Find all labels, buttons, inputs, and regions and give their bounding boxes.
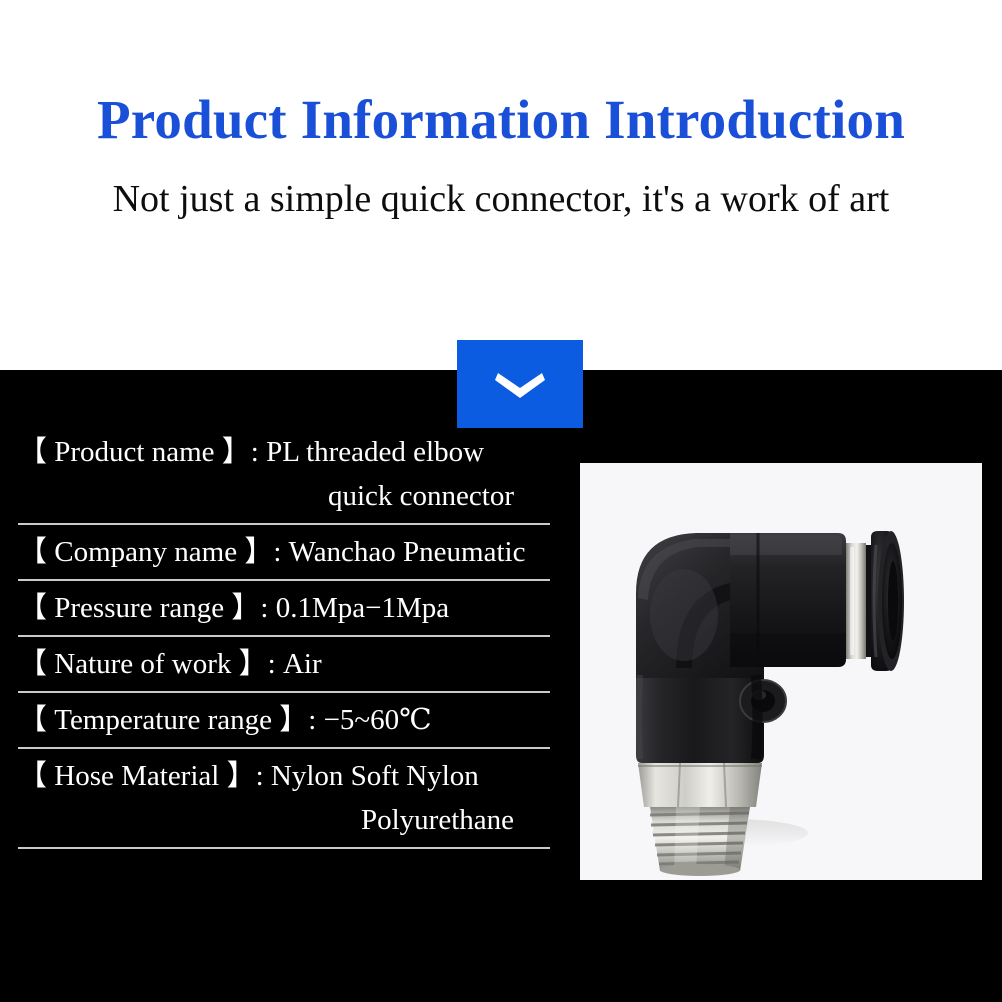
spec-label: 【 Product name 】 xyxy=(18,436,251,468)
row-divider xyxy=(18,847,550,849)
specification-list: 【 Product name 】: PL threaded elbow quic… xyxy=(0,430,568,854)
spec-separator: : xyxy=(268,648,276,680)
spec-row-company-name: 【 Company name 】: Wanchao Pneumatic xyxy=(0,530,568,581)
page-subtitle: Not just a simple quick connector, it's … xyxy=(0,180,1002,218)
product-photo xyxy=(580,463,982,880)
pneumatic-elbow-fitting-illustration xyxy=(580,463,982,880)
spec-separator: : xyxy=(308,704,316,736)
spec-label: 【 Temperature range 】 xyxy=(18,704,308,736)
row-divider xyxy=(18,523,550,525)
spec-value: Air xyxy=(283,648,322,680)
spec-row-pressure-range: 【 Pressure range 】: 0.1Mpa−1Mpa xyxy=(0,586,568,637)
row-divider xyxy=(18,691,550,693)
spec-value-continued: quick connector xyxy=(18,474,550,518)
product-info-infographic: Product Information Introduction Not jus… xyxy=(0,0,1002,1002)
spec-label: 【 Company name 】 xyxy=(18,536,273,568)
spec-value: PL threaded elbow xyxy=(266,436,484,468)
spec-value: Wanchao Pneumatic xyxy=(289,536,526,568)
spec-label: 【 Pressure range 】 xyxy=(18,592,260,624)
spec-value-continued: Polyurethane xyxy=(18,798,550,842)
spec-value: −5~60℃ xyxy=(324,704,432,736)
spec-separator: : xyxy=(260,592,268,624)
spec-value: 0.1Mpa−1Mpa xyxy=(276,592,449,624)
spec-row-hose-material: 【 Hose Material 】: Nylon Soft Nylon Poly… xyxy=(0,754,568,849)
chevron-down-icon xyxy=(457,340,583,428)
chevron-down-badge[interactable] xyxy=(457,340,583,428)
spec-row-product-name: 【 Product name 】: PL threaded elbow quic… xyxy=(0,430,568,525)
page-title: Product Information Introduction xyxy=(0,92,1002,147)
spec-separator: : xyxy=(256,760,264,792)
spec-separator: : xyxy=(273,536,281,568)
row-divider xyxy=(18,579,550,581)
spec-row-nature-of-work: 【 Nature of work 】: Air xyxy=(0,642,568,693)
spec-label: 【 Hose Material 】 xyxy=(18,760,256,792)
spec-label: 【 Nature of work 】 xyxy=(18,648,268,680)
spec-row-temperature-range: 【 Temperature range 】: −5~60℃ xyxy=(0,698,568,749)
spec-separator: : xyxy=(251,436,259,468)
row-divider xyxy=(18,635,550,637)
spec-value: Nylon Soft Nylon xyxy=(271,760,479,792)
row-divider xyxy=(18,747,550,749)
header-section: Product Information Introduction Not jus… xyxy=(0,0,1002,370)
